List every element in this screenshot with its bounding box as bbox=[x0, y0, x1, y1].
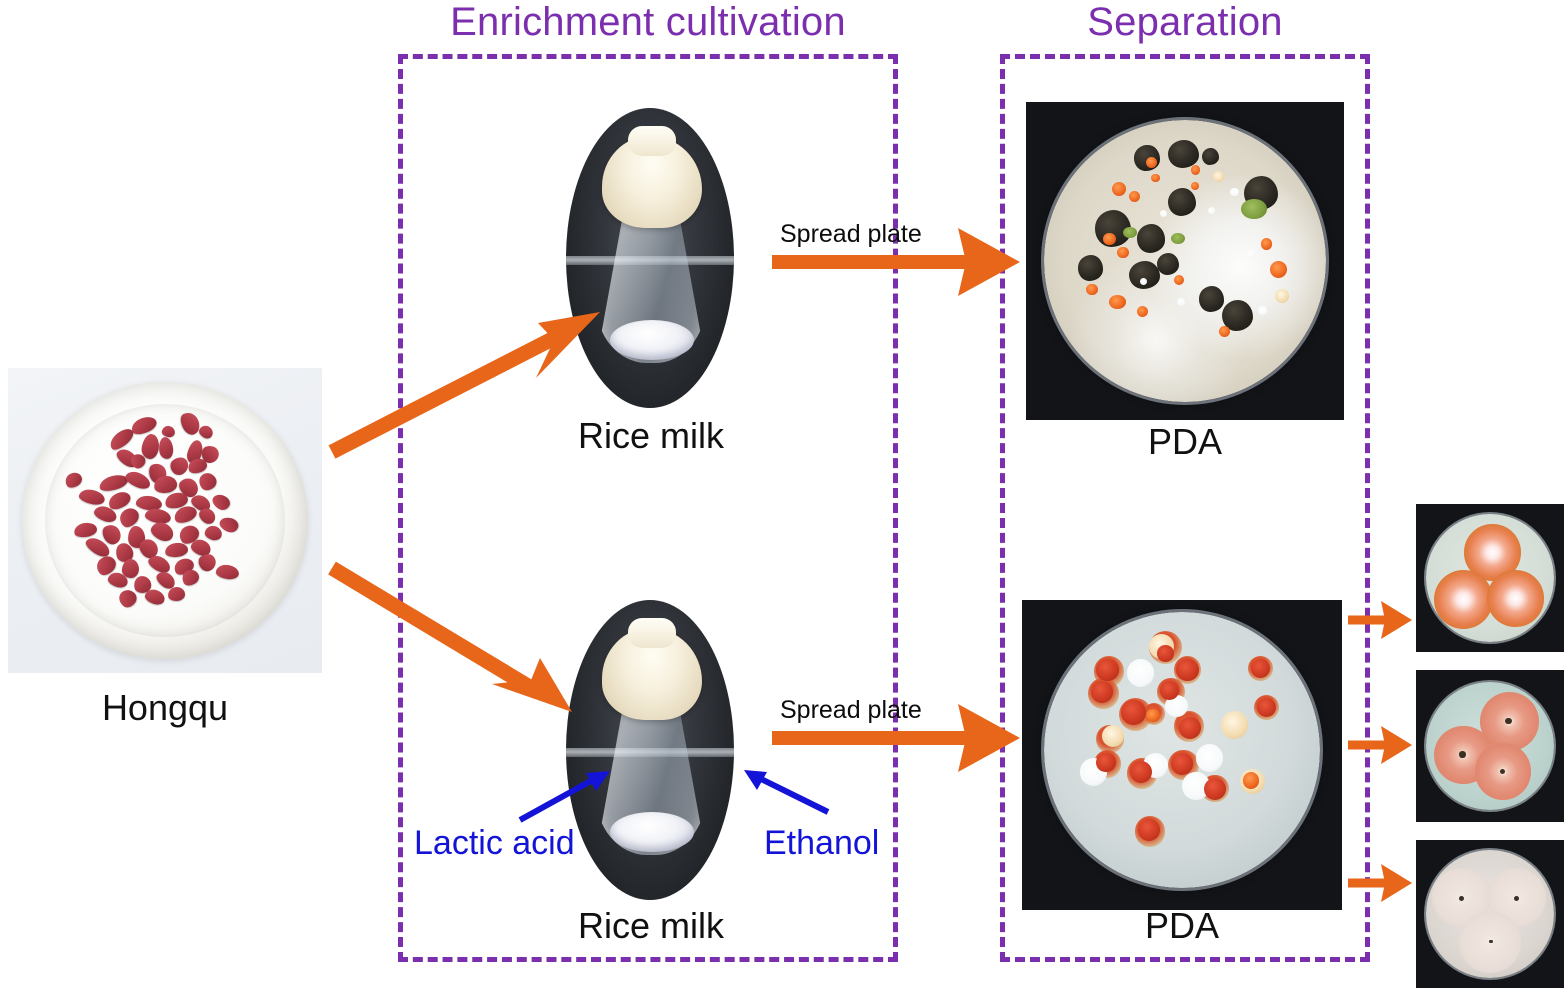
spread-plate-label-top: Spread plate bbox=[780, 222, 960, 247]
spread-plate-label-bottom: Spread plate bbox=[780, 698, 960, 723]
lactic-acid-label: Lactic acid bbox=[414, 826, 575, 860]
arrow-lactic-acid bbox=[520, 771, 610, 820]
arrow-pda-bottom-to-isolate-3 bbox=[1348, 864, 1412, 902]
ethanol-label: Ethanol bbox=[764, 826, 879, 860]
arrow-pda-bottom-to-isolate-2 bbox=[1348, 726, 1412, 764]
arrow-ethanol bbox=[744, 770, 828, 812]
arrow-hongqu-to-flask-top bbox=[332, 312, 600, 452]
arrow-hongqu-to-flask-bottom bbox=[332, 568, 572, 712]
arrow-pda-bottom-to-isolate-1 bbox=[1348, 601, 1412, 639]
figure-canvas: Enrichment cultivation Separation bbox=[0, 0, 1567, 991]
